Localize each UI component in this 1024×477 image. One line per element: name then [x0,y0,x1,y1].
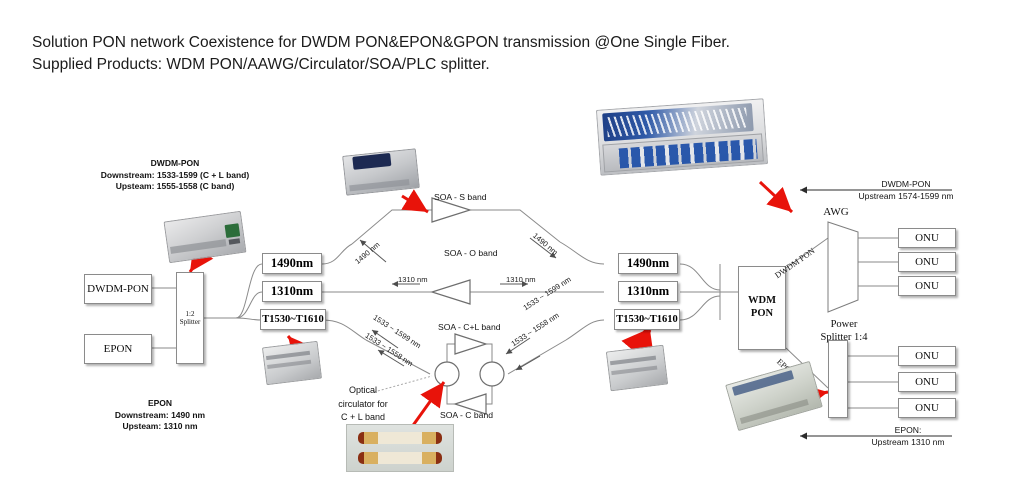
photo-wdm-module [725,361,823,431]
trunk-label-dwdm-pon: DWDM PON [773,246,816,280]
epon-spec: EPON Downstream: 1490 nm Upsteam: 1310 n… [60,398,260,433]
circulator-note-line3: C + L band [318,411,408,425]
epon-upstream-note: EPON: Upstream 1310 nm [828,424,988,449]
photo-plc-splitter-left [262,341,322,386]
epon-spec-downstream: Downstream: 1490 nm [60,410,260,422]
soa-s-band-label: SOA - S band [434,192,487,202]
dwdm-pon-spec-heading: DWDM-PON [75,158,275,170]
soa-o-band-label: SOA - O band [444,248,498,258]
dwdm-upstream-line2: Upstream 1574-1599 nm [826,190,986,202]
box-dwdm-pon[interactable]: DWDM-PON [84,274,152,304]
awg-label: AWG [806,206,866,220]
soa-cl-band-triangle [455,334,486,354]
wavelength-box-right-1490[interactable]: 1490nm [618,253,678,274]
path-label-cl-1533-1558-right: 1533 ~ 1558 nm [510,311,561,349]
epon-spec-upstream: Upsteam: 1310 nm [60,421,260,433]
wavelength-box-left-t1530[interactable]: T1530~T1610 [260,309,326,330]
path-label-right-1310: 1310 nm [506,275,536,284]
optical-circulator-note: Optical circulator for C + L band [318,384,408,425]
awg-shape [828,222,858,312]
dwdm-pon-spec: DWDM-PON Downstream: 1533-1599 (C + L ba… [75,158,275,193]
wavelength-box-left-1490[interactable]: 1490nm [262,253,322,274]
wavelength-box-left-1310[interactable]: 1310nm [262,281,322,302]
photo-soa-s-module [342,148,420,196]
wavelength-box-right-1310[interactable]: 1310nm [618,281,678,302]
epon-upstream-line2: Upstream 1310 nm [828,436,988,448]
optical-circulator-right [480,362,504,386]
dwdm-pon-spec-downstream: Downstream: 1533-1599 (C + L band) [75,170,275,182]
onu-awg-1[interactable]: ONU [898,228,956,248]
epon-spec-heading: EPON [60,398,260,410]
onu-splitter-1[interactable]: ONU [898,346,956,366]
diagram-canvas: Solution PON network Coexistence for DWD… [0,0,1024,477]
power-splitter-shape[interactable] [828,340,848,418]
photo-optical-circulator [346,424,454,472]
page-title: Solution PON network Coexistence for DWD… [32,32,932,77]
onu-awg-3[interactable]: ONU [898,276,956,296]
epon-upstream-line1: EPON: [828,424,988,436]
dwdm-pon-spec-upstream: Upsteam: 1555-1558 (C band) [75,181,275,193]
onu-splitter-2[interactable]: ONU [898,372,956,392]
onu-awg-2[interactable]: ONU [898,252,956,272]
circulator-note-line1: Optical [318,384,408,398]
optical-circulator-left [435,362,459,386]
photo-plc-splitter-right [606,345,668,392]
photo-awg-module [596,98,768,176]
dwdm-upstream-note: DWDM-PON Upstream 1574-1599 nm [826,178,986,203]
splitter-1x2[interactable]: 1:2 Splitter [176,272,204,364]
box-epon[interactable]: EPON [84,334,152,364]
soa-cl-band-label: SOA - C+L band [438,322,501,332]
wavelength-box-right-t1530[interactable]: T1530~T1610 [614,309,680,330]
path-label-up-1490: 1490 nm [353,240,381,266]
path-label-down-1310: 1310 nm [398,275,428,284]
photo-dwdm-pon-module [163,211,246,263]
title-line-2: Supplied Products: WDM PON/AAWG/Circulat… [32,54,932,76]
circulator-note-line2: circulator for [318,398,408,412]
path-label-right-1490: 1490 nm [531,231,559,257]
onu-splitter-3[interactable]: ONU [898,398,956,418]
dwdm-upstream-line1: DWDM-PON [826,178,986,190]
title-line-1: Solution PON network Coexistence for DWD… [32,32,932,54]
soa-o-band-triangle [432,280,470,304]
soa-c-band-label: SOA - C band [440,410,493,420]
